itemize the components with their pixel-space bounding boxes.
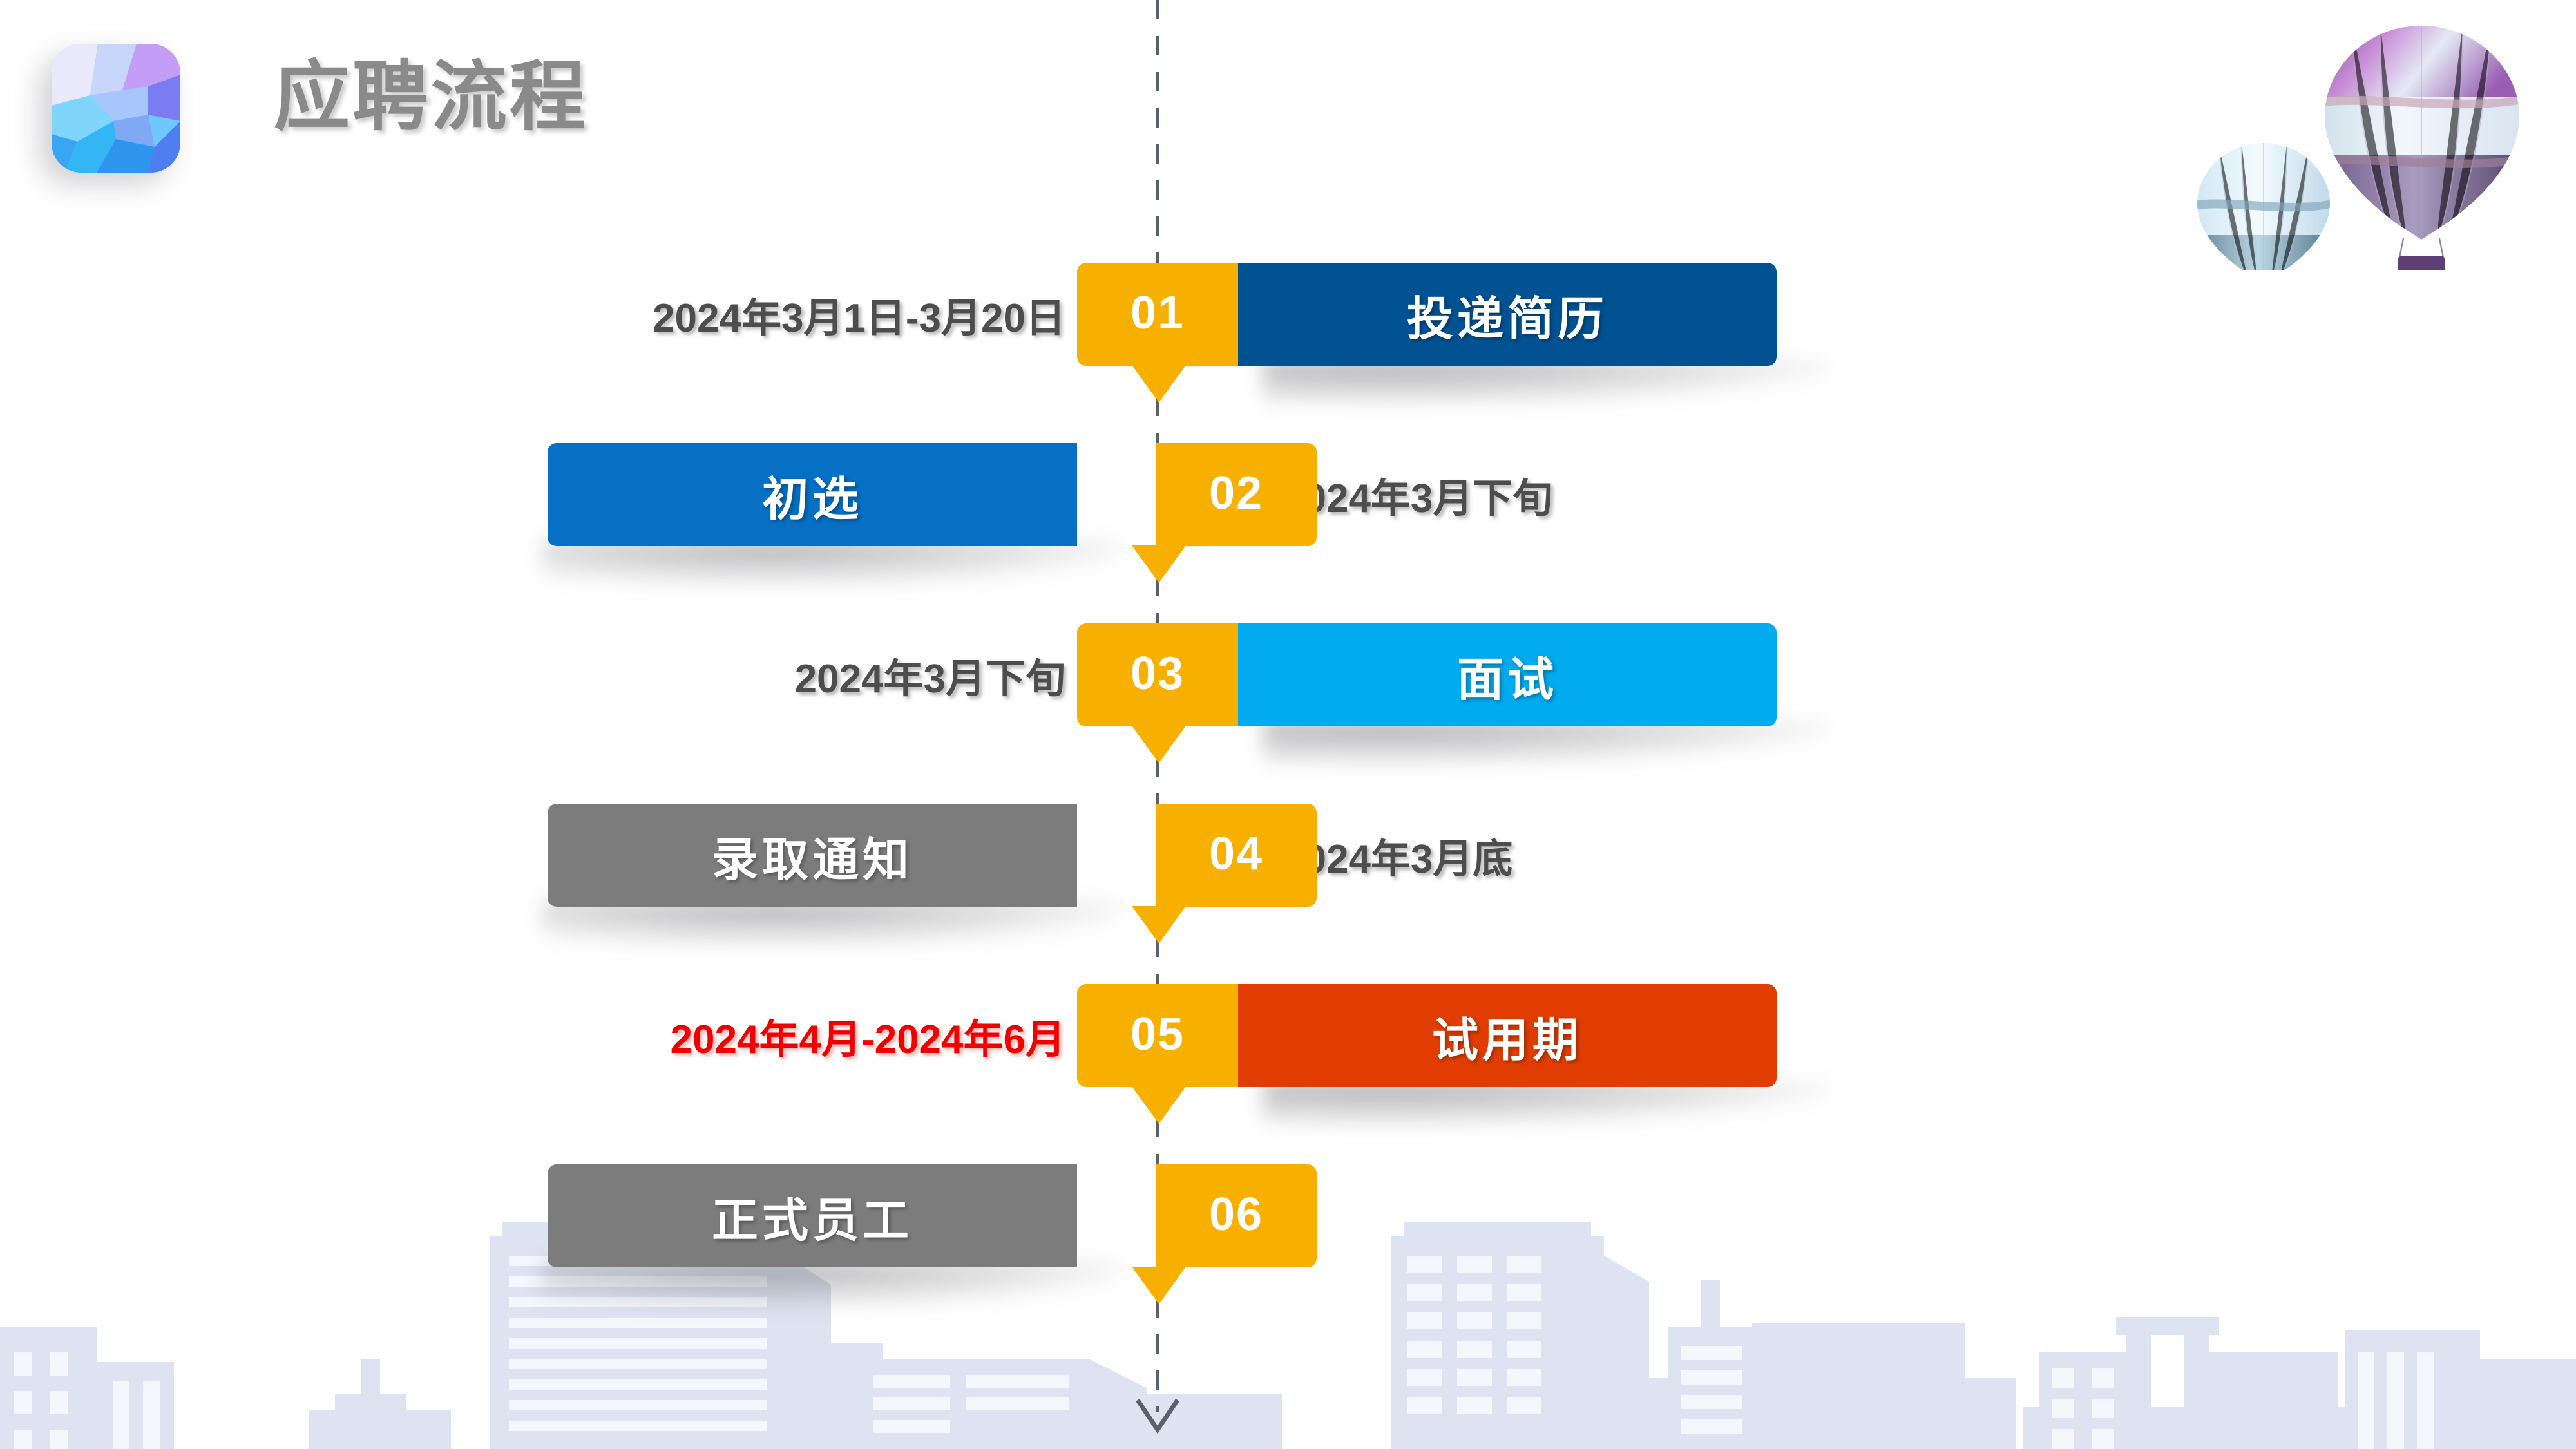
step-label-bar-03[interactable]: 面试 (1238, 623, 1777, 726)
timeline-step-01[interactable]: 2024年3月1日-3月20日 01 投递简历 (0, 263, 2576, 385)
badge-pointer-05 (1132, 1086, 1186, 1124)
timeline-step-06[interactable]: 06 正式员工 (0, 1164, 2576, 1287)
bar-shadow (1263, 1081, 1829, 1127)
timeline-step-04[interactable]: 2024年3月底 04 录取通知 (0, 804, 2576, 926)
step-number-badge-02[interactable]: 02 (1156, 443, 1317, 546)
step-number-badge-06[interactable]: 06 (1156, 1164, 1317, 1267)
badge-pointer-06 (1132, 1267, 1186, 1304)
step-number-badge-03[interactable]: 03 (1077, 623, 1238, 726)
badge-pointer-01 (1132, 365, 1186, 402)
step-number-badge-04[interactable]: 04 (1156, 804, 1317, 907)
step-date-05: 2024年4月-2024年6月 (671, 984, 1065, 1087)
step-number-badge-05[interactable]: 05 (1077, 984, 1238, 1087)
step-date-01: 2024年3月1日-3月20日 (653, 263, 1065, 366)
slide-canvas: 应聘流程 2024年3月1日-3月20日 01 投递简历 2024年3月下旬 0… (0, 0, 2576, 1449)
bar-shadow (1263, 359, 1829, 406)
badge-pointer-04 (1132, 906, 1186, 943)
step-date-03: 2024年3月下旬 (795, 623, 1065, 726)
bar-shadow (541, 900, 1121, 947)
bar-shadow (1263, 720, 1829, 766)
timeline-steps: 2024年3月1日-3月20日 01 投递简历 2024年3月下旬 02 初选 … (0, 0, 2576, 1449)
bar-shadow (541, 540, 1121, 586)
timeline-step-02[interactable]: 2024年3月下旬 02 初选 (0, 443, 2576, 565)
badge-pointer-03 (1132, 726, 1186, 763)
step-label-bar-02[interactable]: 初选 (548, 443, 1077, 546)
bar-shadow (541, 1261, 1121, 1307)
step-label-bar-01[interactable]: 投递简历 (1238, 263, 1777, 366)
badge-pointer-02 (1132, 545, 1186, 583)
timeline-step-03[interactable]: 2024年3月下旬 03 面试 (0, 623, 2576, 746)
step-label-bar-04[interactable]: 录取通知 (548, 804, 1077, 907)
step-date-02: 2024年3月下旬 (1282, 443, 1552, 546)
timeline-step-05[interactable]: 2024年4月-2024年6月 05 试用期 (0, 984, 2576, 1106)
step-number-badge-01[interactable]: 01 (1077, 263, 1238, 366)
step-label-bar-06[interactable]: 正式员工 (548, 1164, 1077, 1267)
step-label-bar-05[interactable]: 试用期 (1238, 984, 1777, 1087)
